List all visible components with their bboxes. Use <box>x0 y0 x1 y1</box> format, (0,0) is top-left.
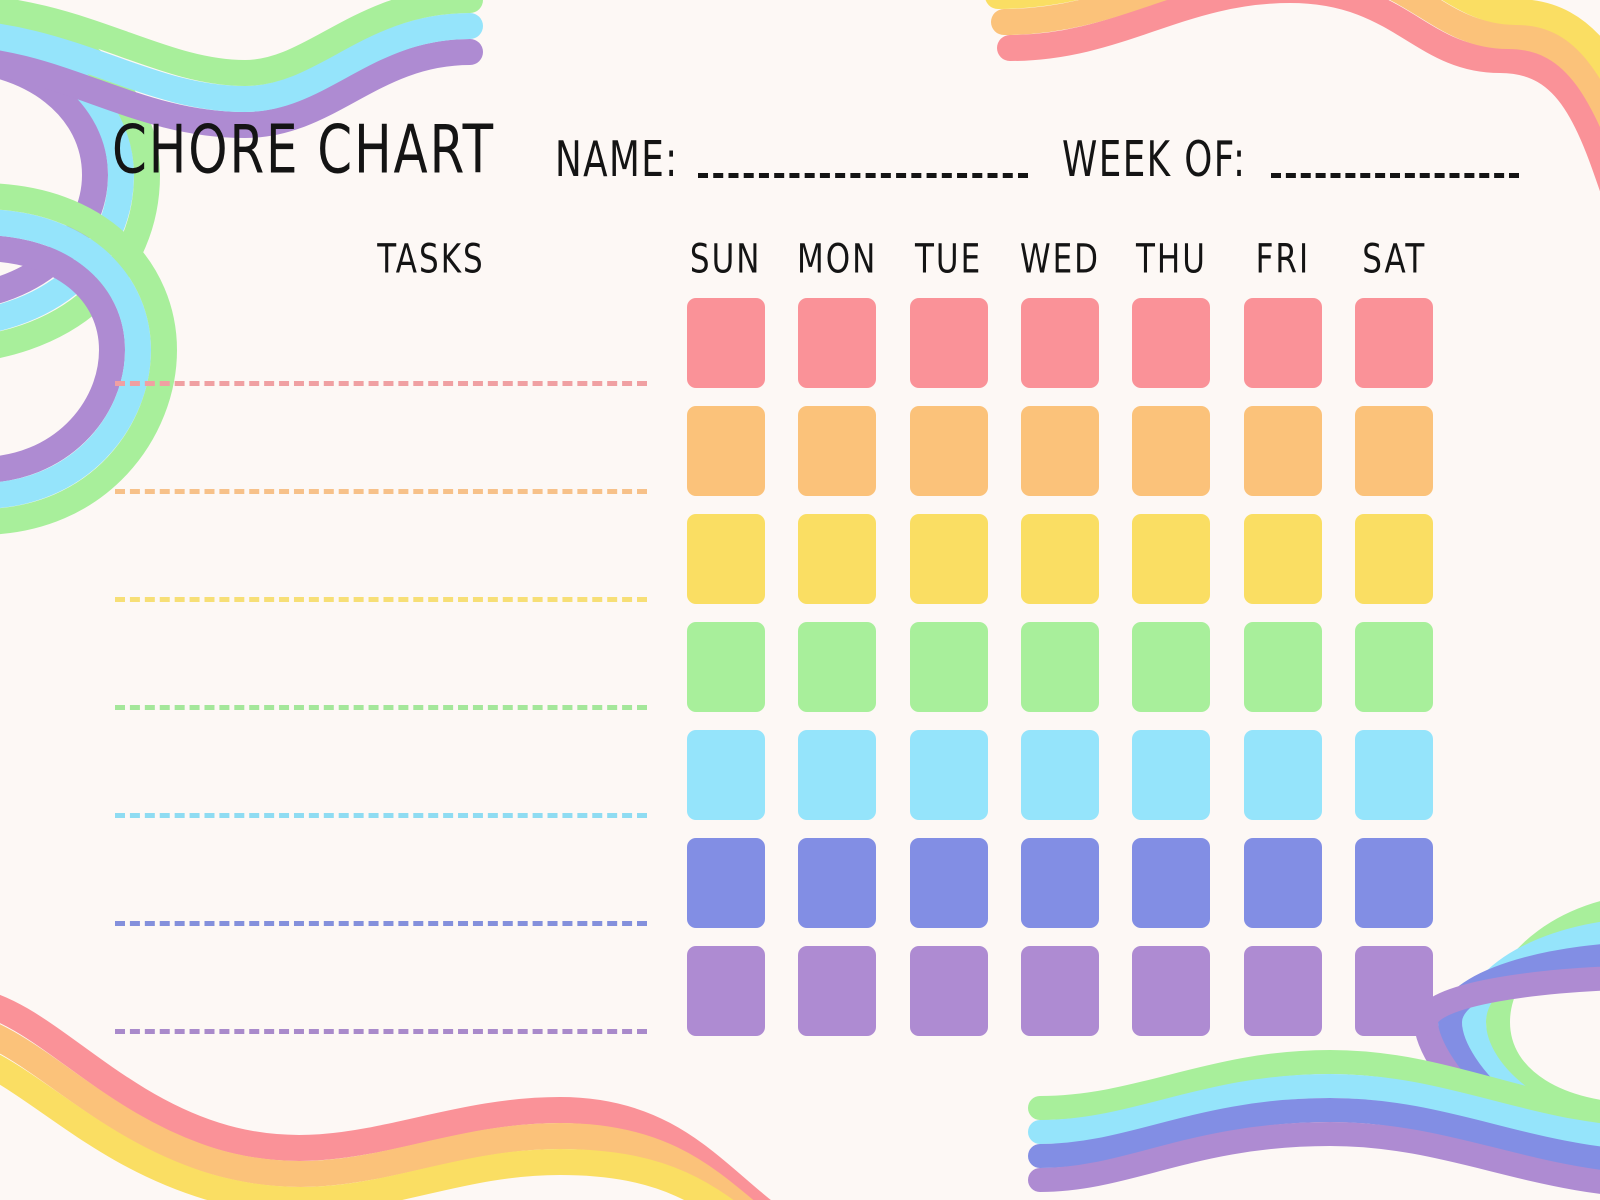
day-heading-mon: MON <box>781 240 892 280</box>
cell-wrap <box>781 838 892 946</box>
cell-wrap <box>1227 298 1338 406</box>
task-line-row <box>115 730 647 838</box>
chore-checkbox-5-tue[interactable] <box>910 730 988 820</box>
chore-grid <box>670 298 1450 1054</box>
cell-wrap <box>893 838 1004 946</box>
cell-wrap <box>1227 838 1338 946</box>
cell-wrap <box>781 946 892 1054</box>
chore-checkbox-1-sun[interactable] <box>687 298 765 388</box>
day-heading-tue: TUE <box>893 240 1004 280</box>
cell-wrap <box>670 730 781 838</box>
chore-checkbox-2-sun[interactable] <box>687 406 765 496</box>
task-line-row <box>115 298 647 406</box>
chore-checkbox-7-tue[interactable] <box>910 946 988 1036</box>
task-input-5[interactable] <box>115 813 647 818</box>
chore-checkbox-6-wed[interactable] <box>1021 838 1099 928</box>
cell-wrap <box>1116 298 1227 406</box>
cell-wrap <box>670 838 781 946</box>
task-line-row <box>115 622 647 730</box>
name-label: NAME: <box>555 135 679 184</box>
chore-checkbox-2-thu[interactable] <box>1132 406 1210 496</box>
cell-wrap <box>1339 946 1450 1054</box>
chore-checkbox-1-tue[interactable] <box>910 298 988 388</box>
cell-wrap <box>670 622 781 730</box>
cell-wrap <box>1227 514 1338 622</box>
task-input-2[interactable] <box>115 489 647 494</box>
chore-checkbox-4-wed[interactable] <box>1021 622 1099 712</box>
day-heading-sat: SAT <box>1339 240 1450 280</box>
chore-checkbox-4-mon[interactable] <box>798 622 876 712</box>
week-of-input[interactable] <box>1271 173 1519 178</box>
chore-chart-page: { "page": { "background_color": "#FDF8F5… <box>0 0 1600 1200</box>
cell-wrap <box>893 298 1004 406</box>
chore-checkbox-7-wed[interactable] <box>1021 946 1099 1036</box>
cell-wrap <box>1339 838 1450 946</box>
cell-wrap <box>1004 514 1115 622</box>
name-input[interactable] <box>698 173 1028 178</box>
cell-wrap <box>1116 946 1227 1054</box>
chore-checkbox-3-fri[interactable] <box>1244 514 1322 604</box>
cell-wrap <box>1339 622 1450 730</box>
chore-checkbox-6-sun[interactable] <box>687 838 765 928</box>
chore-checkbox-5-sat[interactable] <box>1355 730 1433 820</box>
chore-checkbox-1-sat[interactable] <box>1355 298 1433 388</box>
chore-checkbox-3-tue[interactable] <box>910 514 988 604</box>
chore-checkbox-4-fri[interactable] <box>1244 622 1322 712</box>
chore-checkbox-5-mon[interactable] <box>798 730 876 820</box>
chore-row-2 <box>670 406 1450 514</box>
chore-checkbox-7-mon[interactable] <box>798 946 876 1036</box>
chore-checkbox-6-fri[interactable] <box>1244 838 1322 928</box>
cell-wrap <box>670 946 781 1054</box>
chore-checkbox-1-fri[interactable] <box>1244 298 1322 388</box>
chore-row-1 <box>670 298 1450 406</box>
cell-wrap <box>893 730 1004 838</box>
chore-checkbox-7-thu[interactable] <box>1132 946 1210 1036</box>
task-lines-column <box>115 298 647 1054</box>
cell-wrap <box>781 298 892 406</box>
cell-wrap <box>1116 622 1227 730</box>
chore-checkbox-1-wed[interactable] <box>1021 298 1099 388</box>
task-line-row <box>115 406 647 514</box>
task-input-4[interactable] <box>115 705 647 710</box>
cell-wrap <box>1227 730 1338 838</box>
chore-checkbox-5-thu[interactable] <box>1132 730 1210 820</box>
day-heading-sun: SUN <box>670 240 781 280</box>
cell-wrap <box>1339 514 1450 622</box>
chore-checkbox-5-wed[interactable] <box>1021 730 1099 820</box>
chore-row-5 <box>670 730 1450 838</box>
cell-wrap <box>670 406 781 514</box>
cell-wrap <box>1116 514 1227 622</box>
cell-wrap <box>1227 622 1338 730</box>
chore-checkbox-6-sat[interactable] <box>1355 838 1433 928</box>
chore-checkbox-7-sat[interactable] <box>1355 946 1433 1036</box>
name-field[interactable]: NAME: <box>555 146 1029 184</box>
day-heading-fri: FRI <box>1227 240 1338 280</box>
day-heading-wed: WED <box>1004 240 1115 280</box>
chore-checkbox-1-mon[interactable] <box>798 298 876 388</box>
chart-header: CHORE CHART NAME: WEEK OF: <box>112 112 1472 184</box>
chore-checkbox-2-sat[interactable] <box>1355 406 1433 496</box>
chore-checkbox-4-sun[interactable] <box>687 622 765 712</box>
chore-checkbox-3-wed[interactable] <box>1021 514 1099 604</box>
cell-wrap <box>1339 406 1450 514</box>
chore-checkbox-6-thu[interactable] <box>1132 838 1210 928</box>
cell-wrap <box>1004 946 1115 1054</box>
chore-checkbox-2-fri[interactable] <box>1244 406 1322 496</box>
cell-wrap <box>781 730 892 838</box>
cell-wrap <box>1227 406 1338 514</box>
cell-wrap <box>781 514 892 622</box>
cell-wrap <box>1004 838 1115 946</box>
chore-checkbox-5-sun[interactable] <box>687 730 765 820</box>
day-heading-thu: THU <box>1116 240 1227 280</box>
cell-wrap <box>1339 298 1450 406</box>
chore-checkbox-3-thu[interactable] <box>1132 514 1210 604</box>
cell-wrap <box>670 514 781 622</box>
chore-checkbox-3-sun[interactable] <box>687 514 765 604</box>
task-input-3[interactable] <box>115 597 647 602</box>
tasks-column-heading: TASKS <box>336 240 526 280</box>
day-heading-row: SUNMONTUEWEDTHUFRISAT <box>670 240 1450 271</box>
task-input-1[interactable] <box>115 381 647 386</box>
cell-wrap <box>1116 730 1227 838</box>
cell-wrap <box>670 298 781 406</box>
chore-checkbox-1-thu[interactable] <box>1132 298 1210 388</box>
chore-checkbox-4-sat[interactable] <box>1355 622 1433 712</box>
cell-wrap <box>893 406 1004 514</box>
chore-checkbox-3-sat[interactable] <box>1355 514 1433 604</box>
cell-wrap <box>1004 730 1115 838</box>
page-title: CHORE CHART <box>112 117 495 184</box>
chore-checkbox-4-tue[interactable] <box>910 622 988 712</box>
cell-wrap <box>1116 406 1227 514</box>
task-input-7[interactable] <box>115 1029 647 1034</box>
task-input-6[interactable] <box>115 921 647 926</box>
cell-wrap <box>893 946 1004 1054</box>
cell-wrap <box>1004 622 1115 730</box>
chore-checkbox-2-wed[interactable] <box>1021 406 1099 496</box>
week-of-field[interactable]: WEEK OF: <box>1062 146 1518 184</box>
cell-wrap <box>893 622 1004 730</box>
chore-checkbox-3-mon[interactable] <box>798 514 876 604</box>
cell-wrap <box>1339 730 1450 838</box>
cell-wrap <box>1227 946 1338 1054</box>
chore-checkbox-7-sun[interactable] <box>687 946 765 1036</box>
chore-checkbox-4-thu[interactable] <box>1132 622 1210 712</box>
cell-wrap <box>1004 406 1115 514</box>
cell-wrap <box>781 622 892 730</box>
chore-checkbox-7-fri[interactable] <box>1244 946 1322 1036</box>
chore-checkbox-6-tue[interactable] <box>910 838 988 928</box>
week-of-label: WEEK OF: <box>1062 135 1246 184</box>
task-line-row <box>115 838 647 946</box>
task-line-row <box>115 514 647 622</box>
cell-wrap <box>781 406 892 514</box>
chore-row-3 <box>670 514 1450 622</box>
cell-wrap <box>1004 298 1115 406</box>
chore-row-4 <box>670 622 1450 730</box>
chore-checkbox-5-fri[interactable] <box>1244 730 1322 820</box>
task-line-row <box>115 946 647 1054</box>
chore-row-6 <box>670 838 1450 946</box>
cell-wrap <box>893 514 1004 622</box>
chore-row-7 <box>670 946 1450 1054</box>
cell-wrap <box>1116 838 1227 946</box>
chore-checkbox-6-mon[interactable] <box>798 838 876 928</box>
chore-checkbox-2-mon[interactable] <box>798 406 876 496</box>
chore-checkbox-2-tue[interactable] <box>910 406 988 496</box>
